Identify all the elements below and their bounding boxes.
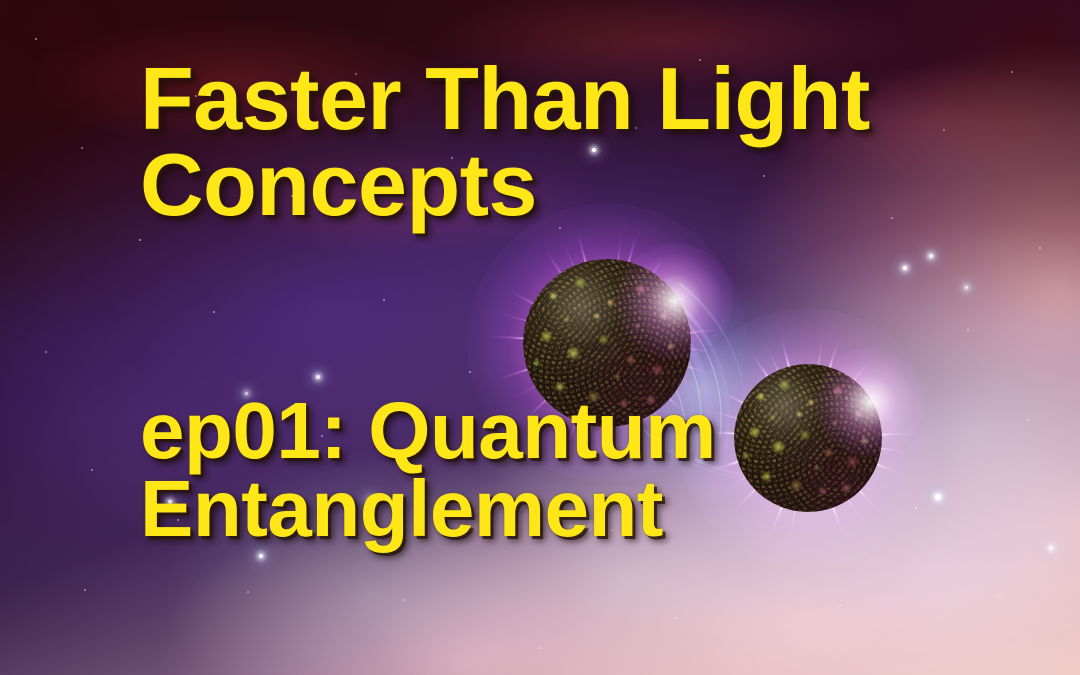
series-title: Faster Than Light Concepts	[140, 56, 940, 228]
video-thumbnail: Faster Than Light Concepts ep01: Quantum…	[0, 0, 1080, 675]
episode-title: ep01: Quantum Entanglement	[140, 392, 900, 549]
title-overlay: Faster Than Light Concepts ep01: Quantum…	[0, 0, 1080, 675]
